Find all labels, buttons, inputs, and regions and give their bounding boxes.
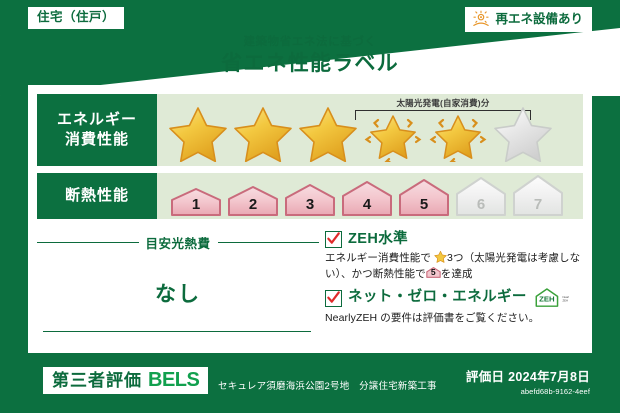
zeh-standard-checkbox[interactable] [325,231,342,248]
insulation-level-number: 1 [169,197,223,212]
zeh-house-logo-icon: ZEH Nearly ZEH [533,287,569,309]
evaluation-date: 評価日 2024年7月8日 [466,366,590,385]
insulation-level-number: 2 [226,197,280,212]
zeh-standard-description: エネルギー消費性能で 3つ（太陽光発電は考慮しない）、かつ断熱性能で5を達成 [325,250,583,282]
renewable-energy-badge-label: 再エネ設備あり [495,13,583,26]
zeh-box: ZEH水準 エネルギー消費性能で 3つ（太陽光発電は考慮しない）、かつ断熱性能で… [319,227,583,345]
zeh-standard-heading: ZEH水準 [325,231,583,248]
star-item [232,104,294,162]
bels-logo-en: BELS [148,370,199,390]
insulation-level-item: 3 [283,183,337,217]
insulation-levels-panel: 1 2 3 [157,173,583,219]
star-item [297,104,359,162]
footer-bar: 第三者評価 BELS セキュレア須磨海浜公園2号地 分譲住宅新築工事 評価日 2… [0,353,620,413]
lower-section: 目安光熱費 なし ZEH水準 [37,227,583,345]
zeh-desc-part1: エネルギー消費性能で [325,252,431,264]
utility-cost-box: 目安光熱費 なし [37,227,319,345]
zeh-net-zero-description: NearlyZEH の要件は評価書をご覧ください。 [325,311,583,326]
sun-icon [472,10,490,28]
renewable-energy-badge: 再エネ設備あり [465,7,592,32]
insulation-level-item: 4 [340,180,394,217]
insulation-level-number: 7 [511,197,565,212]
star-item-solar [362,104,424,162]
insulation-performance-label-box: 断熱性能 [37,173,157,219]
insulation-level-number: 6 [454,197,508,212]
energy-label-line1: エネルギー [57,110,137,130]
project-name: セキュレア須磨海浜公園2号地 分譲住宅新築工事 [218,378,437,392]
insulation-label: 断熱性能 [65,186,129,206]
insulation-level-scale: 1 2 3 [157,174,565,218]
star-item [167,104,229,162]
insulation-level-number: 3 [283,197,337,212]
title-main: 省エネ性能ラベル [0,51,620,77]
star-filled-icon [297,104,359,162]
insulation-level-number: 4 [340,197,394,212]
energy-performance-label: 住宅（住戸） 再エネ設備あり 建築物省エネ法に基づく 省エネ性能ラベル [0,0,620,413]
zeh-standard-title: ZEH水準 [348,232,408,248]
energy-label-line2: 消費性能 [65,130,129,150]
utility-cost-value: なし [37,278,319,308]
svg-text:ZEH: ZEH [562,299,568,303]
title-subtitle: 建築物省エネ法に基づく [0,36,620,50]
insulation-level-item: 5 [397,178,451,217]
building-type-tag: 住宅（住戸） [28,7,124,29]
zeh-item-net-zero: ネット・ゼロ・エネルギー ZEH Nearly ZEH NearlyZEH の要… [325,287,583,326]
svg-text:ZEH: ZEH [539,295,555,304]
inline-level-badge-number: 5 [426,266,441,279]
star-solar-icon [427,104,489,162]
inline-level-badge: 5 [426,266,441,279]
evaluation-id: abefd68b-9162-4eef [466,387,590,396]
insulation-performance-row: 断熱性能 1 [37,173,583,219]
star-item-empty [492,104,554,162]
energy-stars-panel: 太陽光発電(自家消費)分 [157,94,583,166]
star-filled-icon [232,104,294,162]
energy-performance-row: エネルギー 消費性能 太陽光発電(自家消費)分 [37,94,583,166]
insulation-level-item: 1 [169,187,223,217]
label-card: エネルギー 消費性能 太陽光発電(自家消費)分 [28,85,592,353]
star-solar-icon [362,104,424,162]
utility-cost-heading: 目安光熱費 [37,233,319,252]
star-filled-icon [167,104,229,162]
zeh-item-standard: ZEH水準 エネルギー消費性能で 3つ（太陽光発電は考慮しない）、かつ断熱性能で… [325,231,583,282]
insulation-level-item: 7 [511,174,565,217]
check-icon [326,290,341,305]
check-icon [326,231,341,246]
star-item-solar [427,104,489,162]
rule-right [218,242,320,244]
star-rating [157,104,554,162]
zeh-net-zero-checkbox[interactable] [325,290,342,307]
bels-logo-jp: 第三者評価 [52,372,142,389]
evaluation-date-block: 評価日 2024年7月8日 abefd68b-9162-4eef [466,366,590,396]
energy-performance-label-box: エネルギー 消費性能 [37,94,157,166]
zeh-net-zero-title: ネット・ゼロ・エネルギー [348,290,527,306]
utility-cost-heading-label: 目安光熱費 [146,233,211,252]
star-empty-icon [492,104,554,162]
zeh-desc-part3: を達成 [441,268,473,280]
insulation-level-item: 6 [454,176,508,217]
inline-star-icon [434,250,447,263]
zeh-net-zero-heading: ネット・ゼロ・エネルギー ZEH Nearly ZEH [325,287,583,309]
insulation-level-item: 2 [226,185,280,217]
insulation-level-number: 5 [397,197,451,212]
bels-logo: 第三者評価 BELS [43,367,208,394]
rule-left [37,242,139,244]
title-block: 建築物省エネ法に基づく 省エネ性能ラベル [0,36,620,77]
utility-cost-bottom-rule [43,331,311,333]
